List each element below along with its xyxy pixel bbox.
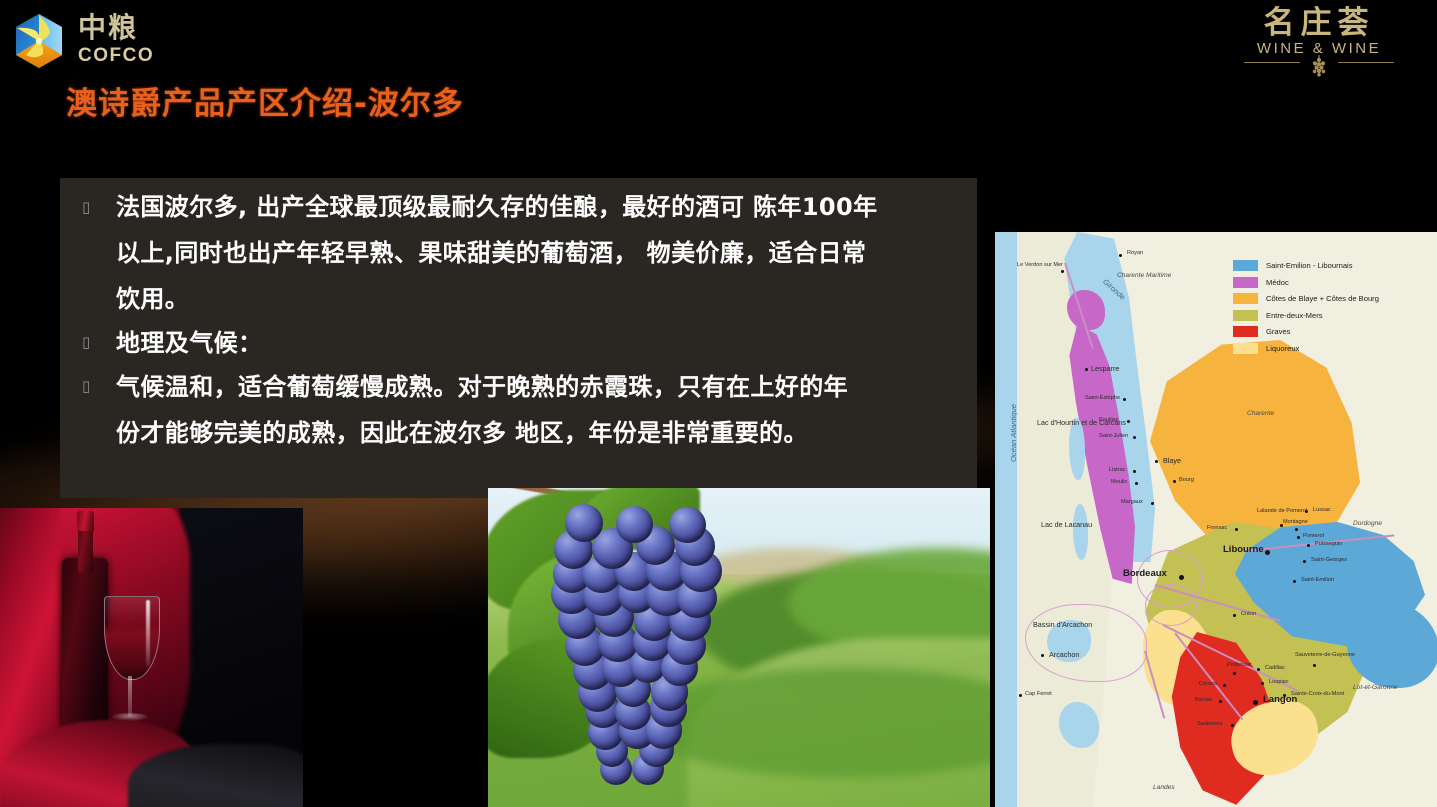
legend-color-swatch bbox=[1233, 343, 1258, 354]
map-label-landes: Landes bbox=[1153, 784, 1175, 792]
map-label-saint-estephe: Saint-Estèphe bbox=[1085, 395, 1120, 402]
legend-label: Liquoreux bbox=[1266, 344, 1299, 353]
map-label-sainte-croix-du-mont: Sainte-Croix-du-Mont bbox=[1291, 691, 1344, 698]
legend-label: Graves bbox=[1266, 327, 1290, 336]
map-label-creon: Créon bbox=[1241, 611, 1256, 618]
legend-color-swatch bbox=[1233, 277, 1258, 288]
map-legend: Saint-Emilion - LibournaisMédocCôtes de … bbox=[1233, 260, 1379, 359]
legend-color-swatch bbox=[1233, 293, 1258, 304]
map-label-cap-ferret: Cap Ferret bbox=[1025, 691, 1052, 698]
map-label-saint-julien: Saint-Julien bbox=[1099, 433, 1128, 440]
cofco-cube-icon bbox=[8, 10, 70, 72]
bullet-marker-icon: ▯ bbox=[76, 322, 116, 362]
map-label-bourg: Bourg bbox=[1179, 477, 1194, 484]
map-label-listrac: Listrac bbox=[1109, 467, 1125, 474]
map-label-sauveterre-de-guyenne: Sauveterre-de-Guyenne bbox=[1295, 652, 1355, 659]
map-label-margaux: Margaux bbox=[1121, 499, 1143, 506]
cofco-logo: 中粮 COFCO bbox=[8, 8, 158, 70]
legend-color-swatch bbox=[1233, 326, 1258, 337]
bullet-marker-icon: ▯ bbox=[76, 364, 116, 408]
list-item: ▯ 地理及气候： bbox=[76, 322, 965, 364]
grape-berry bbox=[669, 507, 705, 543]
legend-color-swatch bbox=[1233, 260, 1258, 271]
bullet-line: 份才能够完美的成熟，因此在波尔多 地区，年份是非常重要的。 bbox=[116, 410, 965, 456]
map-label-libourne: Libourne bbox=[1223, 544, 1264, 556]
list-item: ▯ 气候温和，适合葡萄缓慢成熟。对于晚熟的赤霞珠，只有在上好的年 份才能够完美的… bbox=[76, 364, 965, 456]
legend-item: Côtes de Blaye + Côtes de Bourg bbox=[1233, 293, 1379, 304]
map-label-sauternes: Sauternes bbox=[1197, 721, 1223, 728]
cofco-logo-cn-text: 中粮 bbox=[78, 14, 138, 42]
legend-color-swatch bbox=[1233, 310, 1258, 321]
page-title: 澳诗爵产品产区介绍-波尔多 bbox=[66, 86, 464, 123]
map-label-lac-lacanau: Lac de Lacanau bbox=[1041, 520, 1092, 529]
map-label-saint-georges: Saint-Georges bbox=[1311, 557, 1347, 564]
map-label-barsac: Barsac bbox=[1195, 697, 1212, 704]
wine-and-wine-brand: 名庄荟 WINE & WINE bbox=[1229, 6, 1409, 80]
bullet-line: 气候温和，适合葡萄缓慢成熟。对于晚熟的赤霞珠，只有在上好的年 bbox=[116, 364, 965, 410]
grape-berry bbox=[616, 506, 653, 543]
map-label-loupiac: Loupiac bbox=[1269, 679, 1289, 686]
legend-item: Liquoreux bbox=[1233, 343, 1379, 354]
brand-cn-text: 名庄荟 bbox=[1229, 6, 1409, 40]
red-wine-bottle-and-glass-photo bbox=[0, 508, 303, 807]
map-label-charente-maritime: Charente Maritime bbox=[1117, 272, 1171, 280]
map-label-montagne: Montagne bbox=[1283, 519, 1308, 526]
legend-label: Côtes de Blaye + Côtes de Bourg bbox=[1266, 294, 1379, 303]
legend-label: Entre-deux-Mers bbox=[1266, 311, 1323, 320]
map-label-bordeaux: Bordeaux bbox=[1123, 568, 1167, 580]
map-label-saint-emilion: Saint-Emilion bbox=[1301, 577, 1334, 584]
legend-label: Médoc bbox=[1266, 278, 1289, 287]
grape-cluster-vineyard-photo bbox=[488, 488, 990, 807]
map-label-puisseguin: Puisseguin bbox=[1315, 541, 1342, 548]
bullet-line: 以上,同时也出产年轻早熟、果味甜美的葡萄酒， 物美价廉，适合日常 bbox=[116, 230, 965, 276]
map-label-cerons: Cérons bbox=[1199, 681, 1217, 688]
map-label-cadillac: Cadillac bbox=[1265, 665, 1285, 672]
legend-item: Médoc bbox=[1233, 277, 1379, 288]
map-label-bassin-arcachon: Bassin d'Arcachon bbox=[1033, 620, 1092, 629]
legend-item: Entre-deux-Mers bbox=[1233, 310, 1379, 321]
map-label-arcachon: Arcachon bbox=[1049, 650, 1079, 659]
cofco-logo-en-text: COFCO bbox=[78, 46, 154, 65]
bullet-line: 法国波尔多, 出产全球最顶级最耐久存的佳酿，最好的酒可 陈年100年 bbox=[116, 184, 965, 230]
map-label-lalande-de-pomerol: Lalande de Pomerol bbox=[1257, 508, 1307, 515]
map-label-dordogne: Dordogne bbox=[1353, 520, 1382, 528]
brand-en-text: WINE & WINE bbox=[1229, 41, 1409, 56]
bullet-text: 气候温和，适合葡萄缓慢成熟。对于晚熟的赤霞珠，只有在上好的年 份才能够完美的成熟… bbox=[116, 364, 965, 456]
map-label-moulis: Moulis bbox=[1111, 479, 1127, 486]
map-label-pauillac: Pauillac bbox=[1099, 417, 1119, 424]
list-item: ▯ 法国波尔多, 出产全球最顶级最耐久存的佳酿，最好的酒可 陈年100年 以上,… bbox=[76, 184, 965, 322]
legend-label: Saint-Emilion - Libournais bbox=[1266, 261, 1353, 270]
map-label-lussac: Lussac bbox=[1313, 507, 1331, 514]
slide-bordeaux-region-intro: 中粮 COFCO 名庄荟 WINE & WINE 澳诗爵产品产区介绍-波尔多 ▯ bbox=[0, 0, 1437, 807]
bullet-marker-icon: ▯ bbox=[76, 184, 116, 230]
map-label-royan: Royan bbox=[1127, 250, 1143, 257]
legend-item: Graves bbox=[1233, 326, 1379, 337]
bullet-line: 饮用。 bbox=[116, 276, 965, 322]
map-label-lot-et-garonne: Lot-et-Garonne bbox=[1353, 684, 1398, 692]
grape-berry bbox=[565, 504, 603, 542]
grape-cluster-icon bbox=[1308, 55, 1330, 79]
bordeaux-wine-regions-map: Océan Atlantique Gironde Lac d'Hourtin e… bbox=[995, 232, 1437, 807]
bullet-text: 地理及气候： bbox=[116, 322, 965, 364]
map-label-le-verdon: Le Verdon sur Mer bbox=[1017, 262, 1063, 269]
map-label-blaye: Blaye bbox=[1163, 456, 1181, 465]
map-label-podensac: Podensac bbox=[1227, 662, 1252, 669]
grape-berries bbox=[540, 506, 730, 796]
brand-divider bbox=[1244, 57, 1394, 70]
map-label-ocean: Océan Atlantique bbox=[1009, 404, 1018, 462]
legend-item: Saint-Emilion - Libournais bbox=[1233, 260, 1379, 271]
map-label-lesparre: Lesparre bbox=[1091, 364, 1119, 373]
bullet-line: 地理及气候： bbox=[116, 322, 965, 364]
bullet-list: ▯ 法国波尔多, 出产全球最顶级最耐久存的佳酿，最好的酒可 陈年100年 以上,… bbox=[76, 184, 965, 456]
bullet-text: 法国波尔多, 出产全球最顶级最耐久存的佳酿，最好的酒可 陈年100年 以上,同时… bbox=[116, 184, 965, 322]
map-label-pomerol: Pomerol bbox=[1303, 533, 1324, 540]
map-label-charente: Charente bbox=[1247, 410, 1274, 418]
body-text-panel: ▯ 法国波尔多, 出产全球最顶级最耐久存的佳酿，最好的酒可 陈年100年 以上,… bbox=[60, 178, 977, 498]
map-label-fronsac: Fronsac bbox=[1207, 525, 1227, 532]
